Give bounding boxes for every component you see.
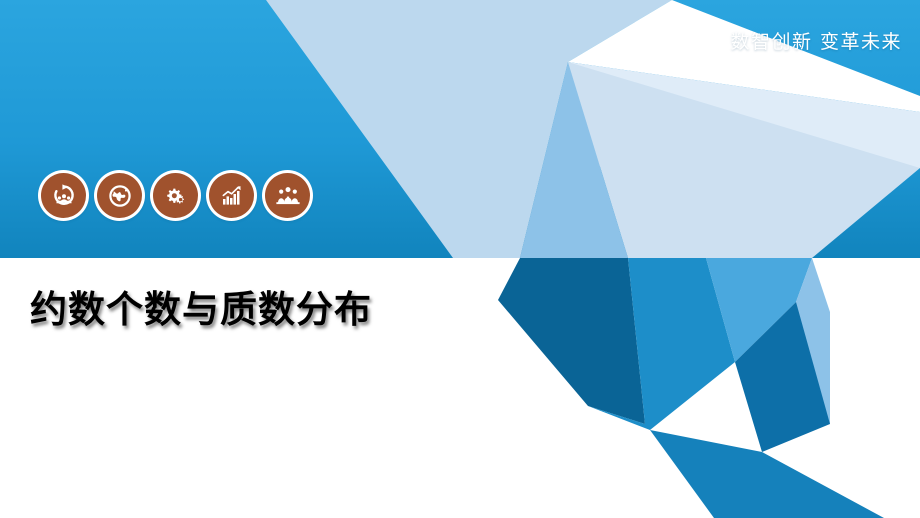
icon-badge-bar-chart-growth[interactable] [209,173,254,218]
title-block: 约数个数与质数分布 [30,288,372,332]
globe-icon [107,183,133,209]
icon-badge-team-people[interactable] [265,173,310,218]
page-title: 约数个数与质数分布 [30,288,372,332]
slide-canvas: 数智创新 变革未来 [0,0,920,518]
icon-badge-globe[interactable] [97,173,142,218]
icon-badge-recycle-people[interactable] [41,173,86,218]
bar-chart-growth-icon [219,183,245,209]
dark-left-lobe [498,258,645,424]
tagline: 数智创新 变革未来 [730,27,902,54]
icon-badge-gears[interactable] [153,173,198,218]
icon-row [41,173,310,218]
background-decoration [0,0,920,518]
gears-icon [163,183,189,209]
team-people-icon [275,183,301,209]
recycle-people-icon [51,183,77,209]
